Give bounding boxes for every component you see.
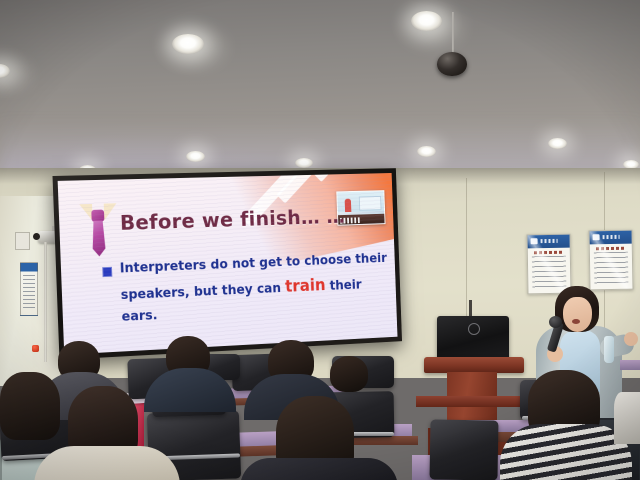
emergency-button-icon[interactable] (32, 345, 39, 352)
ceiling-downlight (411, 11, 442, 31)
attendee-shoulders (34, 446, 180, 480)
bullet-text-highlight: train (285, 275, 326, 295)
presenter-mouth (572, 319, 580, 324)
chair-back (429, 419, 498, 480)
microphone-head (549, 316, 562, 328)
ceiling-downlight (295, 158, 313, 168)
ceiling-downlight (548, 138, 567, 149)
desk-surface (620, 360, 640, 370)
attendee-shoulders-striped (500, 424, 632, 480)
slide-bullet-text: Interpreters do not get to choose their … (119, 248, 391, 328)
attendee-head (0, 372, 60, 440)
photo-scene: Before we finish… … Interpreters do not … (0, 0, 640, 480)
lectern-shelf (416, 396, 534, 407)
presentation-slide: Before we finish… … Interpreters do not … (58, 173, 398, 355)
lectern-top (424, 357, 524, 373)
attendee-head (330, 356, 368, 392)
attendee-shoulders (240, 458, 398, 480)
wall-junction-box (15, 232, 30, 250)
water-bottle-clear (604, 336, 614, 363)
presenter-face (563, 297, 592, 332)
ceiling-speaker-dome-icon (437, 52, 467, 76)
necktie-icon (78, 203, 119, 266)
ceiling-downlight (186, 151, 205, 162)
ceiling-downlight (417, 146, 436, 157)
framed-notice-left (526, 234, 571, 295)
wall-notice-left (20, 262, 38, 316)
podium-monitor (437, 316, 509, 360)
bullet-text-before: Interpreters do not get to choose their … (120, 251, 388, 302)
presenter-hand-right (624, 332, 638, 346)
wall-conduit (44, 242, 47, 362)
framed-notice-right (588, 230, 633, 291)
attendee-shoulders (614, 392, 640, 444)
square-bullet-icon (102, 267, 112, 277)
projection-screen: Before we finish… … Interpreters do not … (52, 168, 402, 360)
ceiling-downlight (172, 34, 204, 54)
